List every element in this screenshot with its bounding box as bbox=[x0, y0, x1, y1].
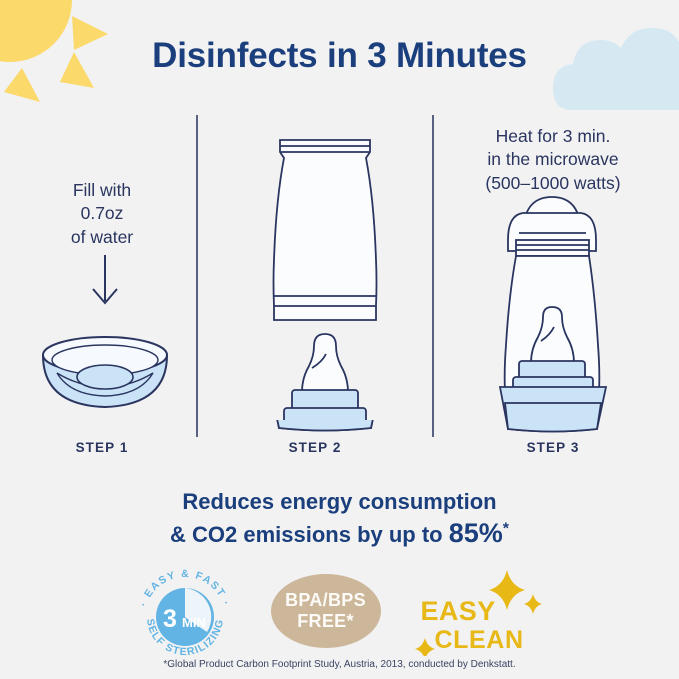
water-bowl-with-arrow-illustration bbox=[30, 255, 180, 435]
bpa-line-1: BPA/BPS bbox=[285, 590, 366, 611]
easy-clean-line-2: CLEAN bbox=[435, 628, 524, 653]
energy-claim-asterisk: * bbox=[503, 521, 509, 538]
step-1-label: STEP 1 bbox=[8, 440, 196, 455]
energy-claim: Reduces energy consumption & CO2 emissio… bbox=[0, 487, 679, 552]
step-3-caption-line-1: Heat for 3 min. bbox=[434, 125, 672, 148]
bpa-line-2: FREE* bbox=[297, 611, 354, 632]
step-1-caption: Fill with 0.7oz of water bbox=[8, 179, 196, 249]
step-3-label: STEP 3 bbox=[434, 440, 672, 455]
badge-row: 3 MIN · EASY & FAST · SELF STERILIZING B… bbox=[0, 566, 679, 656]
step-1-caption-line-2: 0.7oz bbox=[8, 202, 196, 225]
energy-claim-line-1: Reduces energy consumption bbox=[0, 487, 679, 516]
infographic-page: Disinfects in 3 Minutes Fill with 0.7oz … bbox=[0, 0, 679, 679]
easy-clean-badge: EASY CLEAN bbox=[415, 566, 547, 656]
bpa-bps-free-badge: BPA/BPS FREE* bbox=[271, 574, 381, 648]
step-1-caption-line-1: Fill with bbox=[8, 179, 196, 202]
step-3-caption-line-2: in the microwave bbox=[434, 148, 672, 171]
energy-claim-prefix: & CO2 emissions by up to bbox=[170, 522, 449, 547]
energy-claim-value: 85% bbox=[449, 518, 503, 548]
3min-self-sterilizing-badge: 3 MIN · EASY & FAST · SELF STERILIZING bbox=[133, 565, 237, 657]
disassembled-bottle-illustration bbox=[240, 110, 410, 430]
easy-clean-line-1: EASY bbox=[421, 598, 524, 625]
footnote: *Global Product Carbon Footprint Study, … bbox=[0, 659, 679, 670]
step-2-label: STEP 2 bbox=[198, 440, 432, 455]
bottle-base-illustration bbox=[240, 420, 410, 490]
step-1-caption-line-3: of water bbox=[8, 226, 196, 249]
easy-clean-text: EASY CLEAN bbox=[421, 598, 524, 653]
energy-claim-line-2: & CO2 emissions by up to 85%* bbox=[0, 516, 679, 552]
page-title: Disinfects in 3 Minutes bbox=[0, 36, 679, 76]
svg-text:MIN: MIN bbox=[182, 615, 206, 630]
assembled-bottle-illustration bbox=[475, 185, 630, 435]
svg-text:3: 3 bbox=[163, 605, 177, 633]
